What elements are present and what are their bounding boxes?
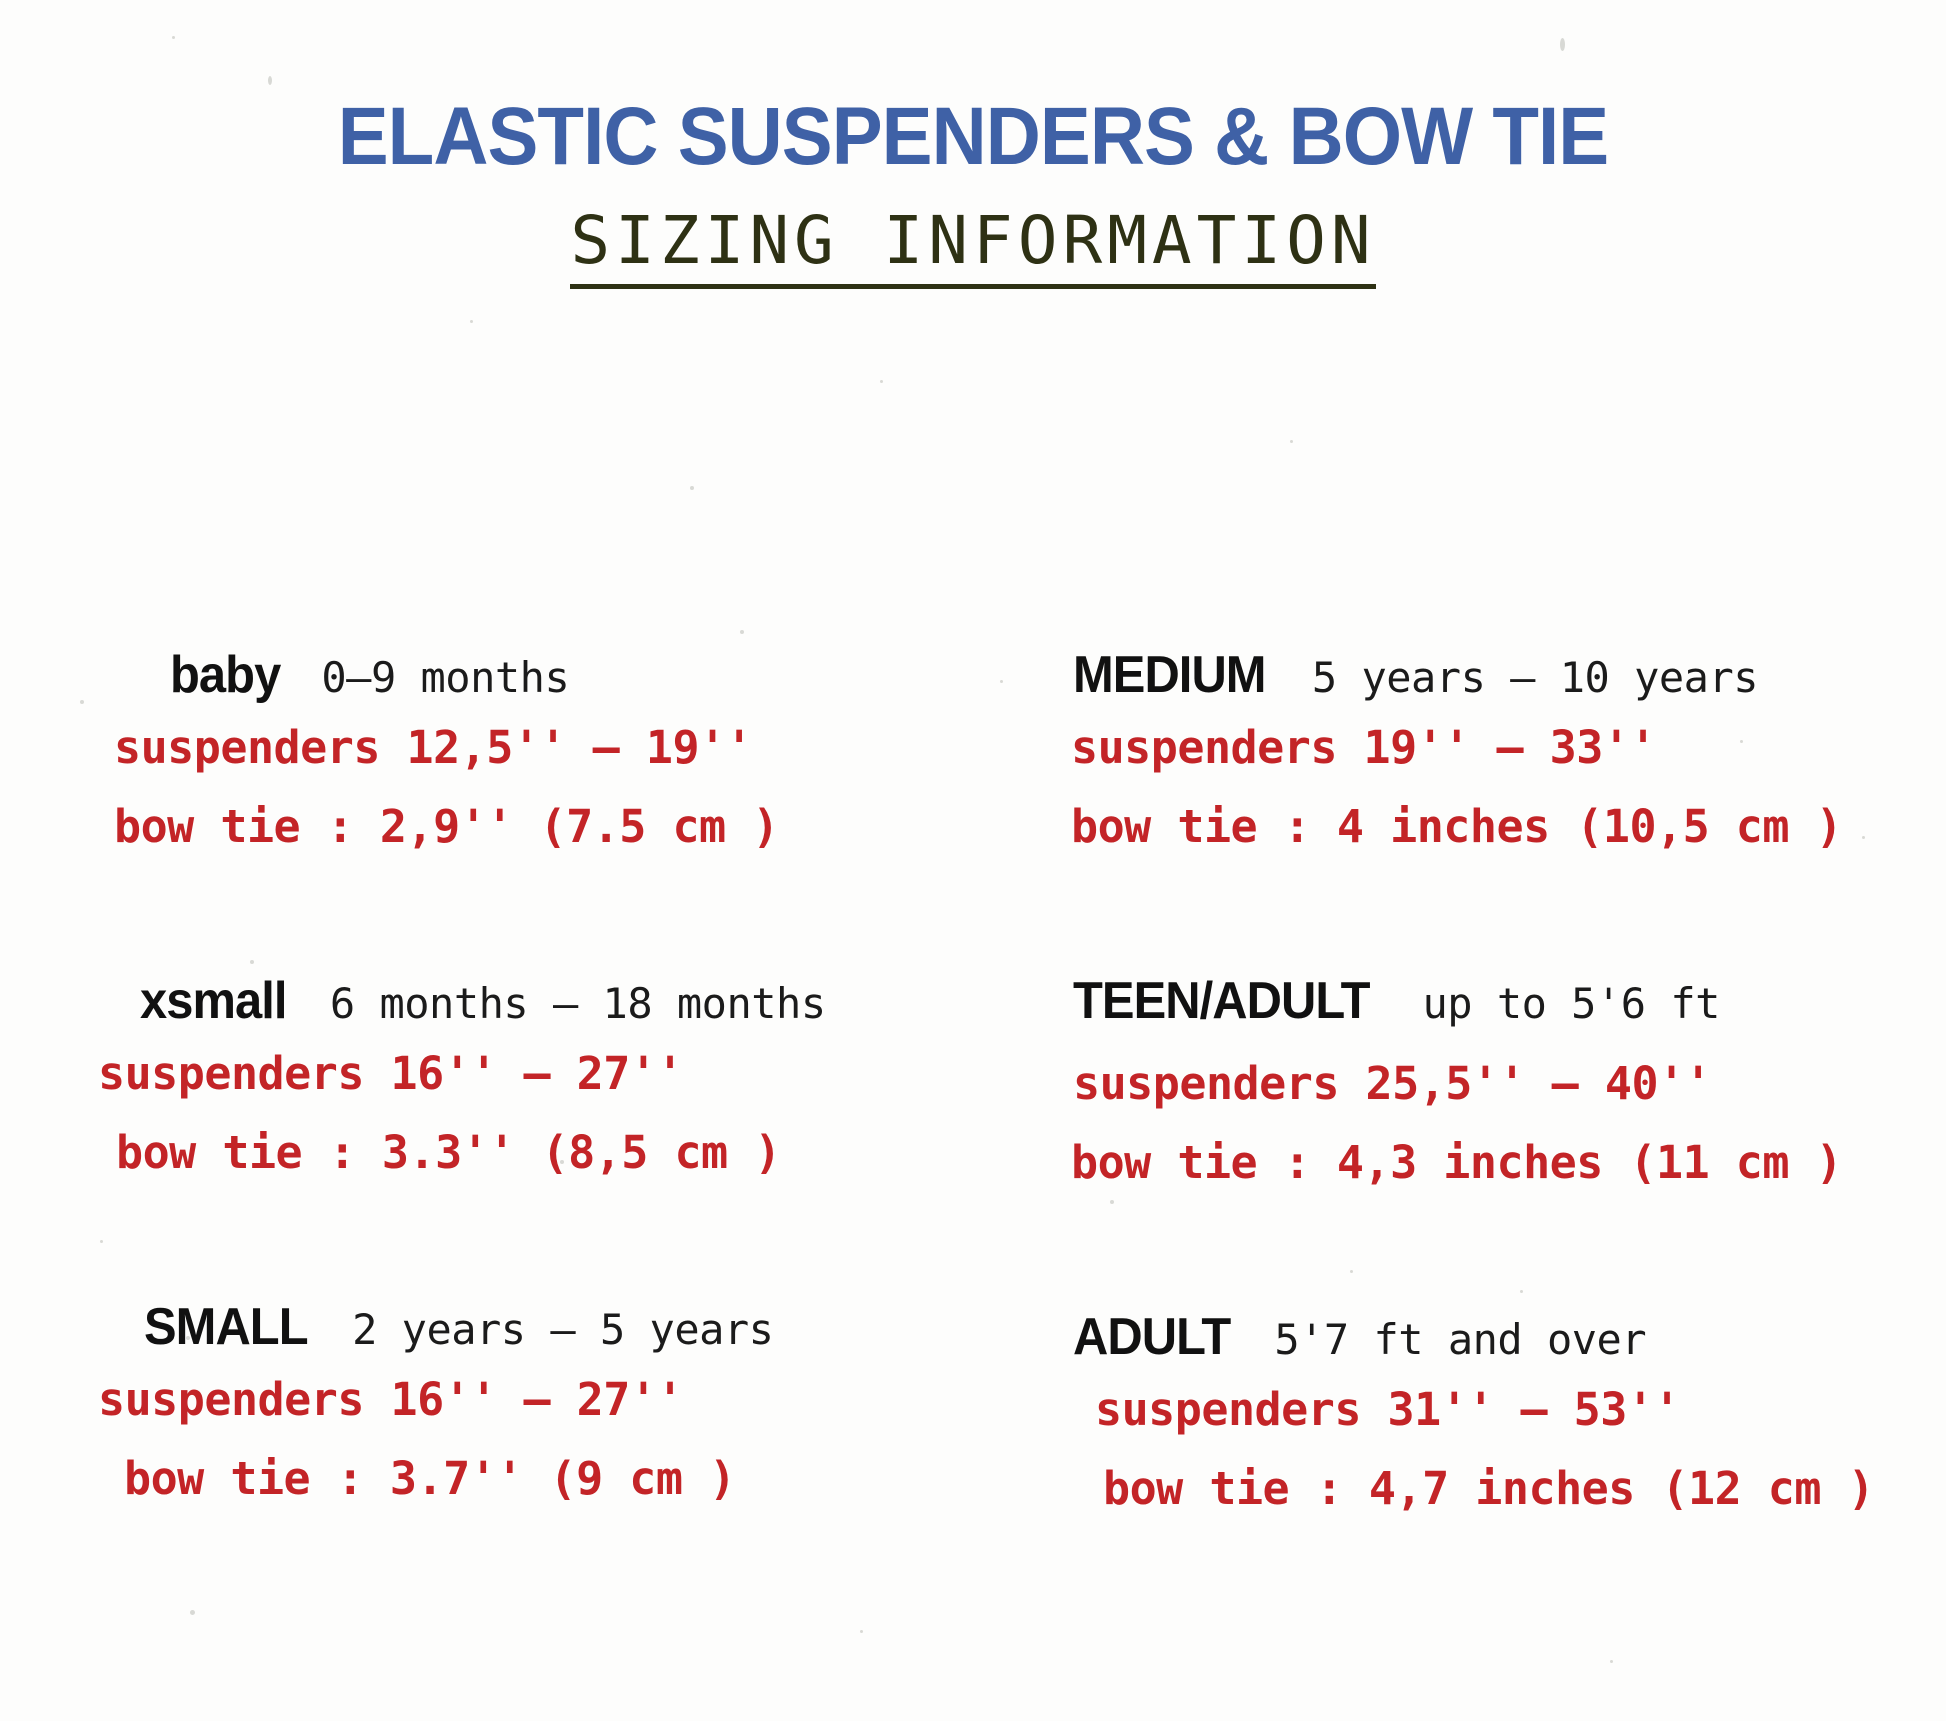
size-blocks-container: baby 0–9 months suspenders 12,5'' – 19''… xyxy=(0,645,1946,1515)
size-block-xsmall: xsmall 6 months – 18 months suspenders 1… xyxy=(130,971,973,1179)
size-name-teen-adult: TEEN/ADULT xyxy=(1073,971,1370,1031)
age-range-baby: 0–9 months xyxy=(321,653,569,702)
age-range-medium: 5 years – 10 years xyxy=(1312,653,1758,702)
scan-speckle xyxy=(880,380,883,383)
size-block-header: xsmall 6 months – 18 months xyxy=(140,971,973,1031)
size-block-adult: ADULT 5'7 ft and over suspenders 31'' – … xyxy=(1073,1307,1946,1515)
size-block-header: ADULT 5'7 ft and over xyxy=(1073,1307,1946,1367)
suspenders-measure-small: suspenders 16'' – 27'' xyxy=(98,1373,973,1426)
age-range-small: 2 years – 5 years xyxy=(352,1305,773,1354)
suspenders-measure-xsmall: suspenders 16'' – 27'' xyxy=(98,1047,973,1100)
subtitle-wrapper: SIZING INFORMATION xyxy=(0,208,1946,289)
bowtie-measure-adult: bow tie : 4,7 inches (12 cm ) xyxy=(1103,1462,1946,1515)
scan-speckle xyxy=(1290,440,1293,443)
sizing-chart-page: ELASTIC SUSPENDERS & BOW TIE SIZING INFO… xyxy=(0,0,1946,1721)
bowtie-measure-small: bow tie : 3.7'' (9 cm ) xyxy=(124,1452,973,1505)
suspenders-measure-adult: suspenders 31'' – 53'' xyxy=(1095,1383,1946,1436)
age-range-adult: 5'7 ft and over xyxy=(1274,1315,1646,1364)
bowtie-measure-baby: bow tie : 2,9'' (7.5 cm ) xyxy=(114,800,973,853)
size-column-right: MEDIUM 5 years – 10 years suspenders 19'… xyxy=(973,645,1946,1515)
scan-speckle xyxy=(190,1610,195,1615)
scan-speckle xyxy=(860,1630,863,1633)
size-block-header: SMALL 2 years – 5 years xyxy=(144,1297,973,1357)
page-title: ELASTIC SUSPENDERS & BOW TIE xyxy=(68,0,1878,178)
size-name-adult: ADULT xyxy=(1073,1307,1230,1367)
size-block-header: TEEN/ADULT up to 5'6 ft xyxy=(1073,971,1946,1031)
size-name-baby: baby xyxy=(170,645,280,705)
bowtie-measure-medium: bow tie : 4 inches (10,5 cm ) xyxy=(1071,800,1946,853)
size-block-baby: baby 0–9 months suspenders 12,5'' – 19''… xyxy=(130,645,973,853)
page-subtitle: SIZING INFORMATION xyxy=(570,208,1375,289)
size-block-header: baby 0–9 months xyxy=(170,645,973,705)
bowtie-measure-teen-adult: bow tie : 4,3 inches (11 cm ) xyxy=(1071,1136,1946,1189)
size-name-medium: MEDIUM xyxy=(1073,645,1266,705)
scan-speckle xyxy=(1610,1660,1613,1663)
chart-header: ELASTIC SUSPENDERS & BOW TIE SIZING INFO… xyxy=(0,0,1946,289)
scan-speckle xyxy=(690,486,694,490)
size-block-header: MEDIUM 5 years – 10 years xyxy=(1073,645,1946,705)
size-block-small: SMALL 2 years – 5 years suspenders 16'' … xyxy=(130,1297,973,1505)
size-name-xsmall: xsmall xyxy=(140,971,287,1031)
size-block-medium: MEDIUM 5 years – 10 years suspenders 19'… xyxy=(1073,645,1946,853)
size-column-left: baby 0–9 months suspenders 12,5'' – 19''… xyxy=(0,645,973,1515)
size-name-small: SMALL xyxy=(144,1297,308,1357)
scan-speckle xyxy=(470,320,473,323)
suspenders-measure-teen-adult: suspenders 25,5'' – 40'' xyxy=(1073,1057,1946,1110)
suspenders-measure-baby: suspenders 12,5'' – 19'' xyxy=(114,721,973,774)
size-block-teen-adult: TEEN/ADULT up to 5'6 ft suspenders 25,5'… xyxy=(1073,971,1946,1189)
scan-speckle xyxy=(740,630,744,634)
bowtie-measure-xsmall: bow tie : 3.3'' (8,5 cm ) xyxy=(116,1126,973,1179)
age-range-xsmall: 6 months – 18 months xyxy=(330,979,826,1028)
age-range-teen-adult: up to 5'6 ft xyxy=(1422,979,1719,1028)
suspenders-measure-medium: suspenders 19'' – 33'' xyxy=(1071,721,1946,774)
